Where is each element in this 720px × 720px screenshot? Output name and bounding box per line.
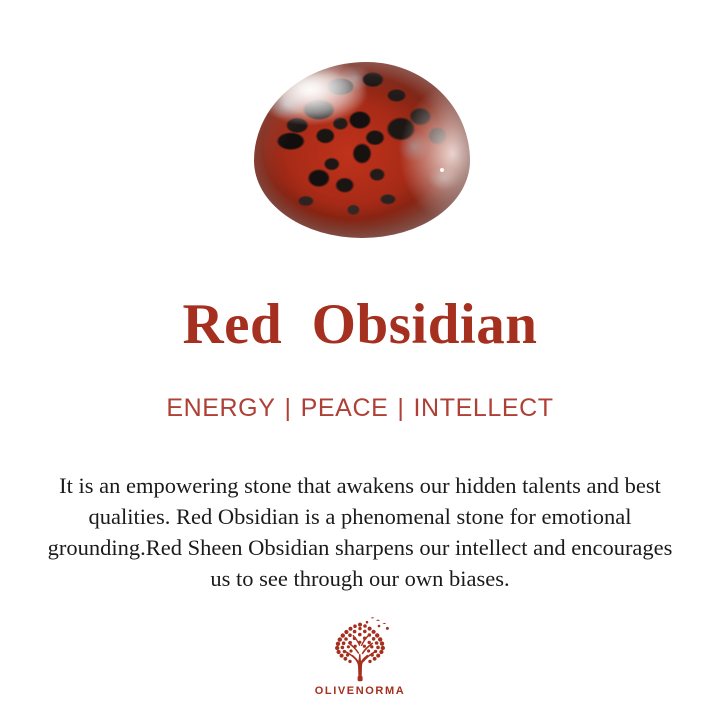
stone-body [254, 62, 470, 238]
keyword-intellect: INTELLECT [414, 394, 554, 422]
tree-of-life-icon [324, 614, 396, 684]
keyword-separator-2: | [388, 394, 413, 422]
keyword-separator-1: | [276, 394, 301, 422]
keyword-list: ENERGY|PEACE|INTELLECT [0, 396, 720, 421]
keyword-peace: PEACE [301, 394, 389, 422]
brand-logo: OLIVENORMA [300, 614, 420, 697]
brand-name: OLIVENORMA [315, 686, 406, 697]
page-title: Red Obsidian [0, 296, 720, 353]
product-description: It is an empowering stone that awakens o… [40, 470, 680, 594]
product-info-card: Red Obsidian ENERGY|PEACE|INTELLECT It i… [0, 0, 720, 720]
red-obsidian-stone-image [254, 62, 470, 238]
keyword-energy: ENERGY [166, 394, 275, 422]
